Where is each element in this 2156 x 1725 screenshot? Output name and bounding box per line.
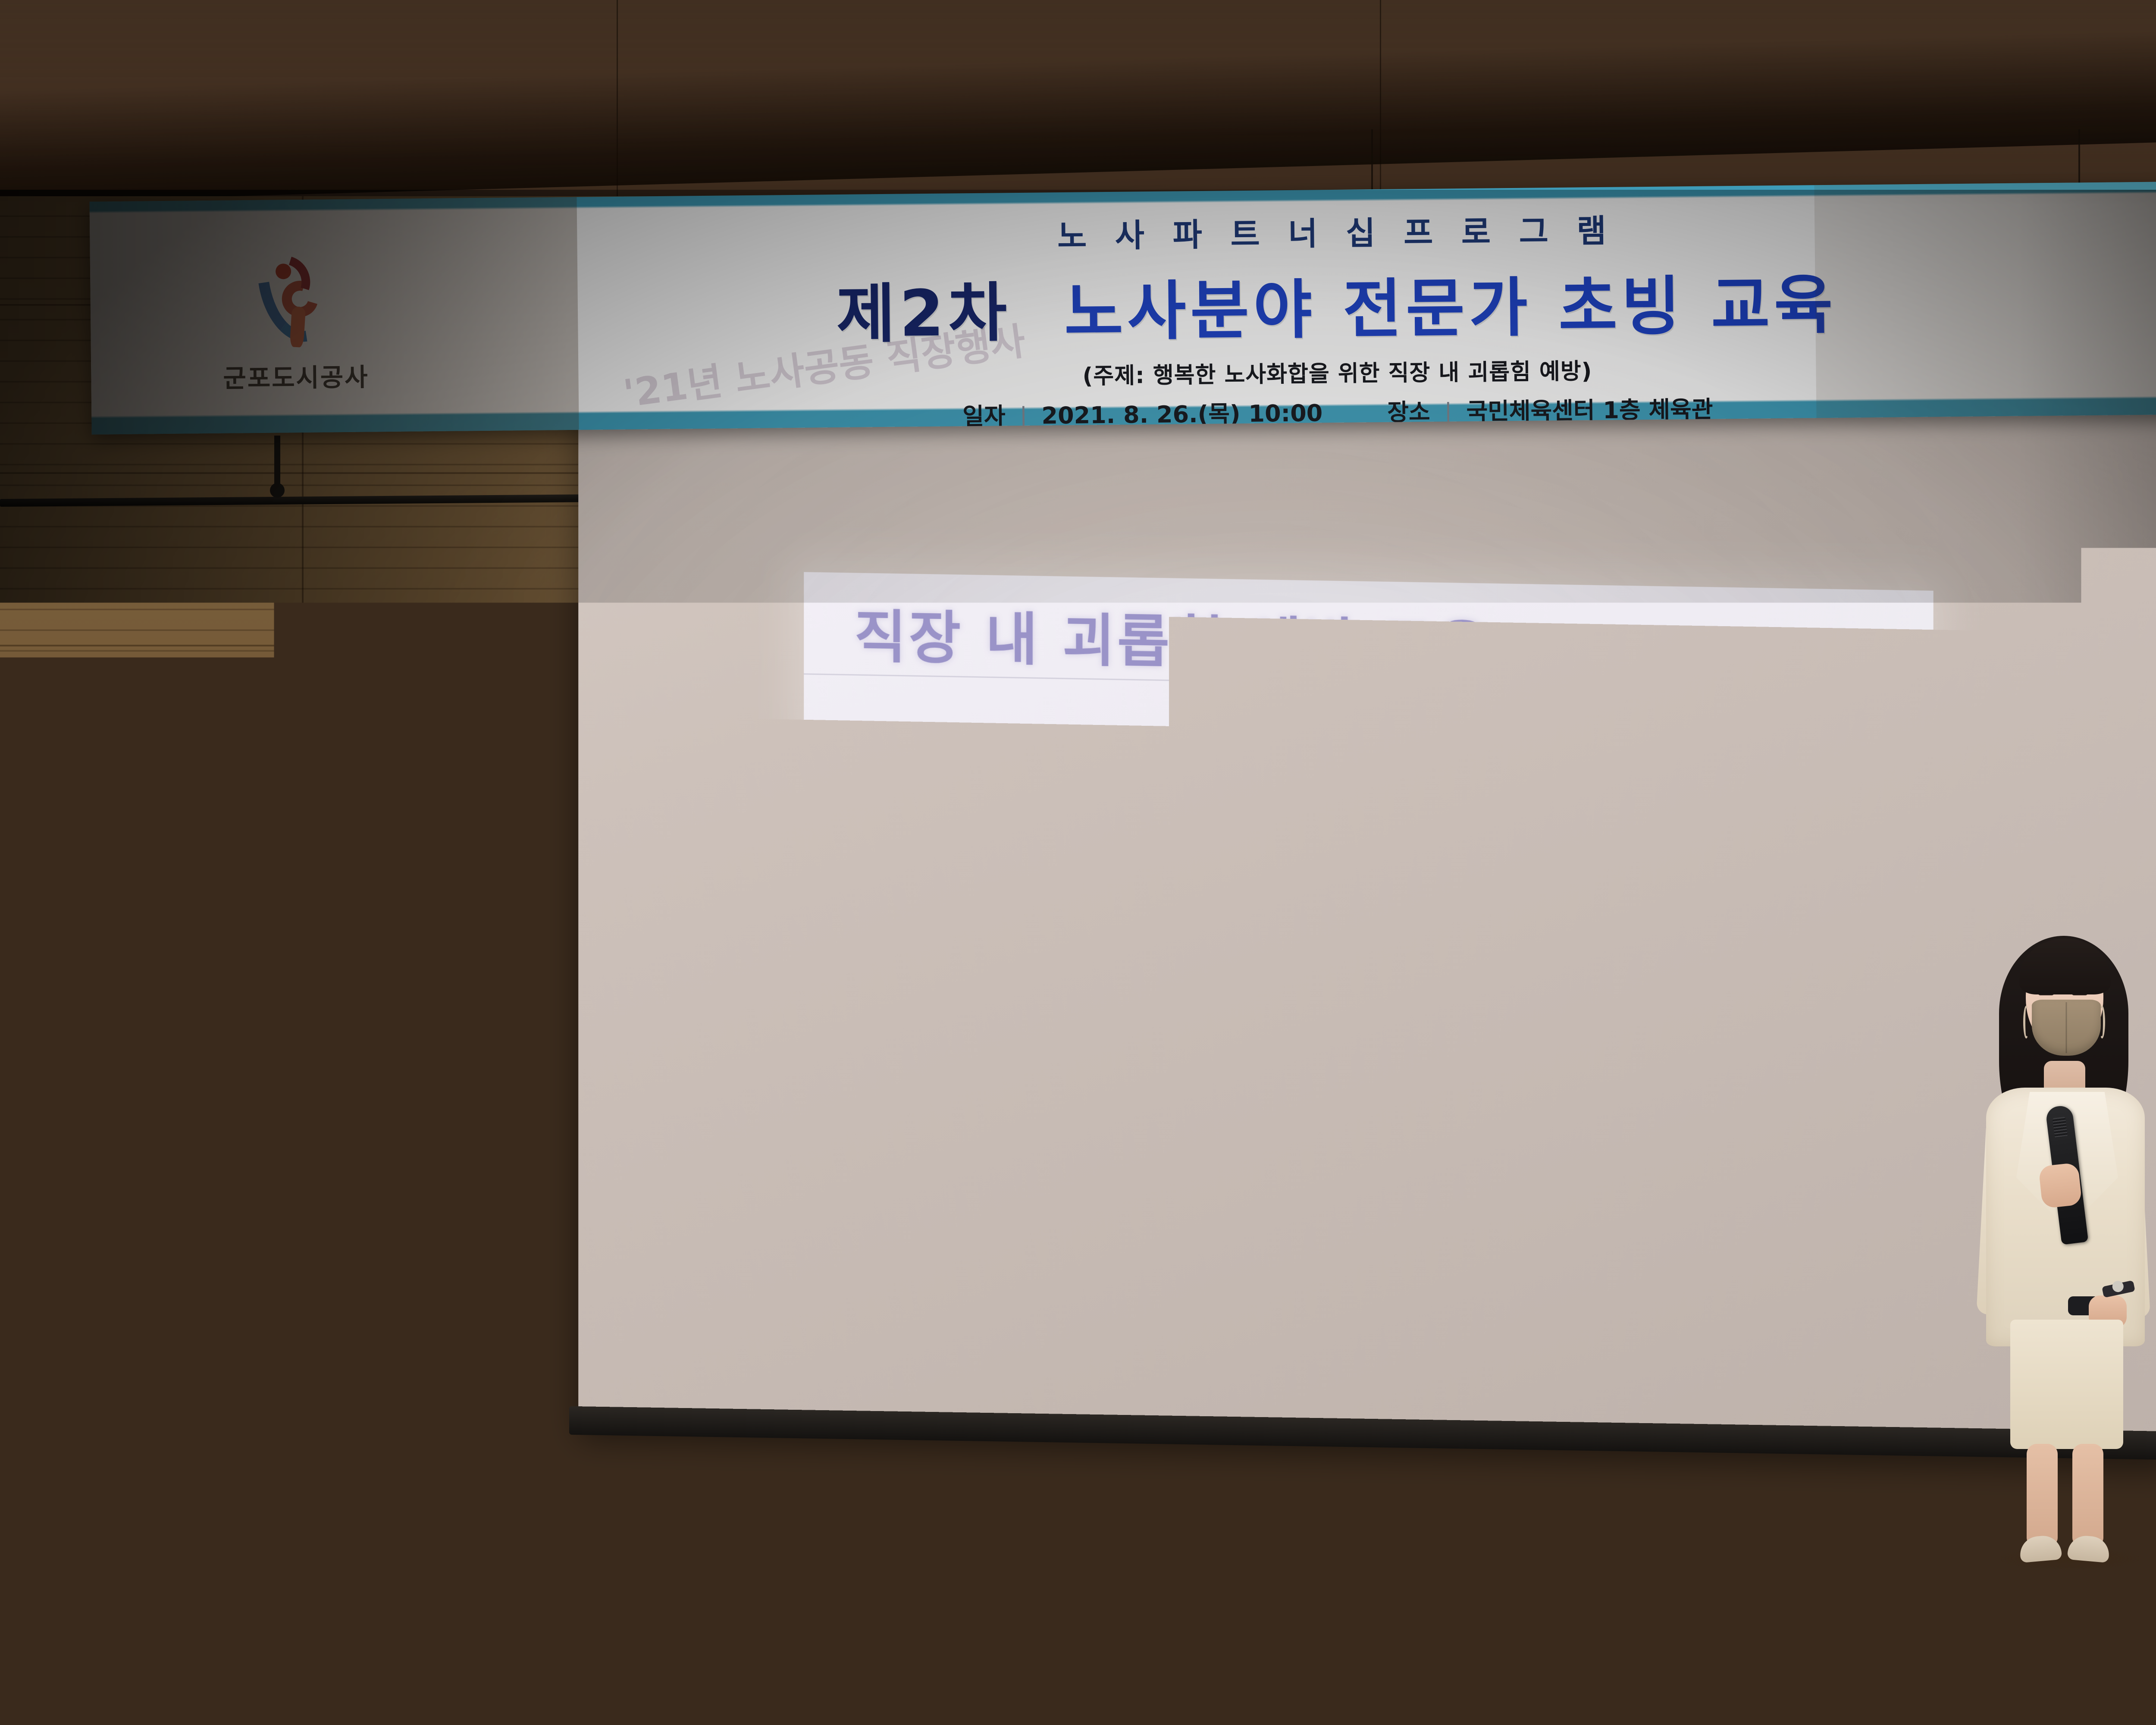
wall-mat-panel	[1298, 1574, 1729, 1725]
banner-main-title: 제2차 노사분야 전문가 초빙 교육	[599, 250, 2075, 357]
mat-clip	[1457, 1550, 1484, 1572]
slide-title: 직장 내 괴롭힘 예방 교육	[854, 591, 1491, 684]
wall-outlet[interactable]	[461, 1358, 488, 1381]
mat-clip	[78, 1540, 104, 1563]
slide-logo-english-name: Gunpo Urban Corporation	[1299, 1186, 1457, 1202]
gym-wall-mats	[0, 1574, 2156, 1725]
banner-corporate-logo: 군포도시공사	[224, 247, 368, 408]
wall-outlet-round[interactable]	[522, 1362, 544, 1383]
wall-mat-panel	[1729, 1574, 2156, 1725]
presenter-leg-left	[2027, 1444, 2058, 1546]
presentation-photo-scene: 직장 내 괴롭힘 예방 교육	[0, 0, 2156, 1725]
event-banner: 군포도시공사 '21년 노사공동 직장행사 노 사 파 트 너 십 프 로 그 …	[90, 178, 2156, 434]
presenter-skirt	[2010, 1320, 2123, 1449]
gunpo-logo-mark-icon	[1237, 1143, 1288, 1208]
slide-logo-korean-name: 군포도시공사	[1299, 1154, 1457, 1185]
banner-text-block: 노 사 파 트 너 십 프 로 그 램 제2차 노사분야 전문가 초빙 교육 (…	[599, 191, 2075, 421]
presenter-hand-holding-microphone	[2038, 1162, 2082, 1208]
banner-hanging-string	[1371, 129, 1373, 194]
banner-title-prefix: 제2차	[836, 276, 1012, 351]
banner-program-line: 노 사 파 트 너 십 프 로 그 램	[599, 201, 2074, 261]
side-door[interactable]	[0, 707, 47, 1436]
wall-mat-panel	[423, 1574, 858, 1725]
presenter-leg-right	[2072, 1444, 2103, 1546]
banner-place-separator: |	[1444, 398, 1452, 425]
banner-hanging-string	[2078, 129, 2080, 190]
gunpo-logo-mark-icon	[263, 260, 328, 351]
face-mask	[2032, 1000, 2101, 1056]
upper-wall-panel	[0, 0, 2156, 203]
banner-title-main: 노사분야 전문가 초빙 교육	[1064, 268, 1837, 349]
banner-organization-name: 군포도시공사	[223, 357, 369, 394]
wall-mat-panel	[858, 1574, 1298, 1725]
mask-earloop-left	[2023, 1006, 2029, 1038]
presenter-cast-shadow	[1725, 873, 1934, 1249]
slide-corporate-logo: 군포도시공사 Gunpo Urban Corporation	[1237, 1143, 1457, 1212]
projected-slide: 직장 내 괴롭힘 예방 교육	[804, 572, 1933, 1249]
presenter-person	[1975, 931, 2156, 1570]
wall-mat-panel	[0, 1574, 423, 1725]
rail-knob	[270, 483, 285, 498]
banner-date-separator: |	[1019, 402, 1028, 430]
banner-subtitle: (주제: 행복한 노사화합을 위한 직장 내 괴롭힘 예방)	[600, 348, 2075, 395]
mat-clip	[358, 1547, 385, 1570]
